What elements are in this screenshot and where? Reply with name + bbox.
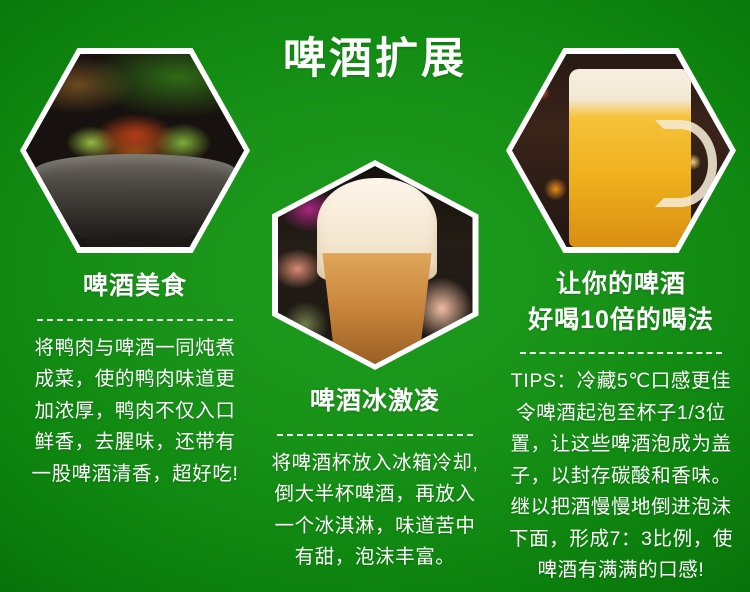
beer-food-body: 将鸭肉与啤酒一同炖煮 成菜，使的鸭肉味道更 加浓厚，鸭肉不仅入口 鲜香，去腥味，…	[10, 333, 260, 491]
braised-duck-beer-dish-photo	[26, 54, 244, 247]
body-line: TIPS：冷藏5℃口感更佳	[492, 366, 750, 398]
body-line: 一个冰淇淋，味道苦中	[255, 511, 495, 543]
body-line: 有甜，泡沫丰富。	[255, 542, 495, 574]
body-line: 继以把酒慢慢地倒进泡沫	[492, 492, 750, 524]
heading-line: 好喝10倍的喝法	[492, 303, 750, 339]
hexagon-frame	[20, 48, 250, 253]
body-line: 成菜，使的鸭肉味道更	[10, 364, 260, 396]
beer-tips-body: TIPS：冷藏5℃口感更佳 令啤酒起泡至杯子1/3位 置，让这些啤酒泡成为盖 子…	[492, 366, 750, 587]
beer-ice-cream-heading: 啤酒冰激凌	[255, 384, 495, 420]
body-line: 倒大半杯啤酒，再放入	[255, 479, 495, 511]
hexagon-frame	[272, 160, 479, 370]
body-line: 令啤酒起泡至杯子1/3位	[492, 398, 750, 430]
column-beer-tips: 让你的啤酒 好喝10倍的喝法 TIPS：冷藏5℃口感更佳 令啤酒起泡至杯子1/3…	[492, 48, 750, 587]
beer-tips-heading: 让你的啤酒 好喝10倍的喝法	[492, 267, 750, 338]
beer-ice-cream-float-photo	[278, 166, 473, 364]
body-line: 下面，形成7：3比例，使	[492, 524, 750, 556]
body-line: 置，让这些啤酒泡成为盖	[492, 429, 750, 461]
cold-beer-mug-photo	[512, 54, 730, 247]
body-line: 一股啤酒清香，超好吃!	[10, 459, 260, 491]
beer-ice-cream-image-frame	[255, 160, 495, 370]
beer-promo-poster: 啤酒扩展 啤酒美食 将鸭肉与啤酒一同炖煮 成菜，使的鸭肉味道更 加浓厚，鸭肉不仅…	[0, 0, 750, 592]
beer-tips-divider	[520, 352, 722, 354]
body-line: 子，以封存碳酸和香味。	[492, 461, 750, 493]
body-line: 将鸭肉与啤酒一同炖煮	[10, 333, 260, 365]
beer-food-divider	[37, 319, 233, 321]
column-beer-ice-cream: 啤酒冰激凌 将啤酒杯放入冰箱冷却, 倒大半杯啤酒，再放入 一个冰淇淋，味道苦中 …	[255, 160, 495, 574]
beer-food-image-frame	[10, 48, 260, 253]
column-beer-food: 啤酒美食 将鸭肉与啤酒一同炖煮 成菜，使的鸭肉味道更 加浓厚，鸭肉不仅入口 鲜香…	[10, 48, 260, 490]
body-line: 将啤酒杯放入冰箱冷却,	[255, 448, 495, 480]
heading-line: 让你的啤酒	[492, 267, 750, 303]
beer-ice-cream-body: 将啤酒杯放入冰箱冷却, 倒大半杯啤酒，再放入 一个冰淇淋，味道苦中 有甜，泡沫丰…	[255, 448, 495, 574]
hexagon-image-clip	[278, 166, 473, 364]
hexagon-image-clip	[26, 54, 244, 247]
body-line: 加浓厚，鸭肉不仅入口	[10, 396, 260, 428]
beer-food-heading: 啤酒美食	[10, 269, 260, 305]
body-line: 鲜香，去腥味，还带有	[10, 427, 260, 459]
beer-ice-cream-divider	[277, 434, 473, 436]
beer-tips-image-frame	[492, 48, 750, 253]
hexagon-frame	[506, 48, 736, 253]
body-line: 啤酒有满满的口感!	[492, 555, 750, 587]
hexagon-image-clip	[512, 54, 730, 247]
